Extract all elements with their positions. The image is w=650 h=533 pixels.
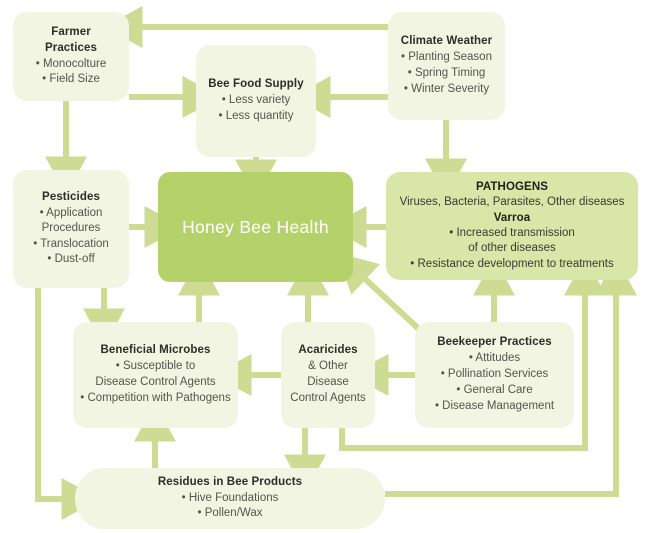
node-item: • Pollination Services: [441, 367, 549, 383]
node-item: • Resistance development to treatments: [410, 257, 613, 272]
node-item: Procedures: [42, 221, 101, 236]
node-title: Residues in Bee Products: [158, 475, 302, 491]
node-item: • Attitudes: [469, 351, 520, 367]
node-item: • Dust-off: [47, 252, 94, 267]
node-item: Control Agents: [290, 391, 365, 407]
node-item: • Disease Management: [435, 399, 554, 415]
node-item: • Application: [40, 206, 103, 221]
node-item: • Translocation: [33, 237, 109, 252]
node-title: Farmer: [51, 25, 91, 41]
node-title: Bee Food Supply: [208, 77, 303, 93]
node-item: • Hive Foundations: [182, 491, 279, 507]
node-item: • Increased transmission: [449, 226, 574, 241]
node-pesticides[interactable]: Pesticides • Application Procedures • Tr…: [13, 170, 129, 288]
node-item: • Less variety: [222, 93, 291, 109]
node-title: PATHOGENS: [476, 180, 548, 195]
node-climate-weather[interactable]: Climate Weather • Planting Season • Spri…: [388, 12, 505, 120]
node-item: • Pollen/Wax: [198, 506, 263, 522]
node-item: • Competition with Pathogens: [80, 391, 230, 407]
node-item: • Winter Severity: [404, 82, 489, 98]
node-item: • Planting Season: [401, 50, 492, 66]
node-title-2: Practices: [45, 41, 97, 57]
node-item: • Susceptible to: [116, 359, 195, 375]
node-beekeeper-practices[interactable]: Beekeeper Practices • Attitudes • Pollin…: [415, 322, 574, 428]
node-farmer-practices[interactable]: Farmer Practices • Monocolture • Field S…: [13, 12, 129, 101]
node-title: Beekeeper Practices: [437, 335, 551, 351]
node-item: • General Care: [456, 383, 532, 399]
diagram-canvas: Farmer Practices • Monocolture • Field S…: [0, 0, 650, 533]
node-item: Disease Control Agents: [95, 375, 215, 391]
node-title: Honey Bee Health: [182, 215, 329, 239]
edge-pesticides-to-residues: [38, 288, 65, 499]
node-item: • Spring Timing: [408, 66, 486, 82]
node-title: Acaricides: [298, 343, 357, 359]
node-item: Disease: [307, 375, 349, 391]
node-title: Climate Weather: [401, 34, 492, 50]
node-subtitle: Viruses, Bacteria, Parasites, Other dise…: [400, 195, 625, 210]
node-bee-food-supply[interactable]: Bee Food Supply • Less variety • Less qu…: [196, 45, 316, 157]
node-pathogens[interactable]: PATHOGENS Viruses, Bacteria, Parasites, …: [386, 172, 638, 280]
node-acaricides[interactable]: Acaricides & Other Disease Control Agent…: [281, 322, 375, 428]
node-item: • Less quantity: [219, 109, 294, 125]
node-item: • Field Size: [42, 72, 100, 88]
node-item: • Monocolture: [36, 57, 107, 73]
node-item: & Other: [308, 359, 348, 375]
node-item: of other diseases: [468, 241, 556, 256]
node-honey-bee-health[interactable]: Honey Bee Health: [158, 172, 353, 282]
node-title: Beneficial Microbes: [101, 343, 211, 359]
node-title: Pesticides: [42, 190, 100, 205]
node-section-title: Varroa: [494, 211, 530, 226]
node-residues-in-bee-products[interactable]: Residues in Bee Products • Hive Foundati…: [75, 468, 385, 529]
node-beneficial-microbes[interactable]: Beneficial Microbes • Susceptible to Dis…: [73, 322, 238, 428]
